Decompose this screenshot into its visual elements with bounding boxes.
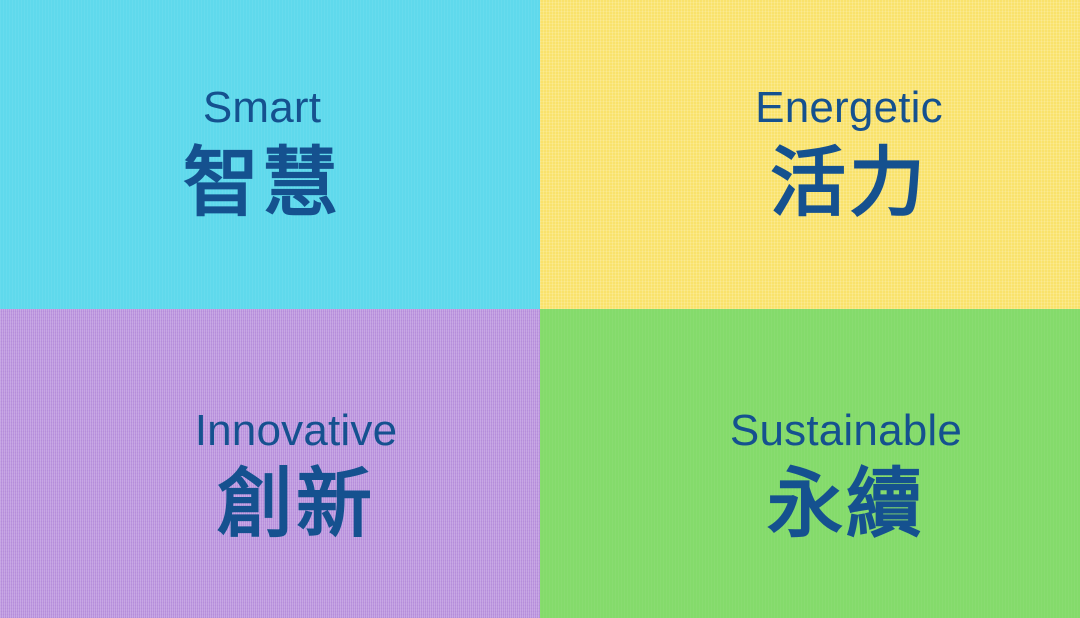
english-label-sustainable: Sustainable [730,409,962,453]
label-stack-sustainable: Sustainable 永續 [730,409,962,543]
quadrant-energetic: Energetic 活力 [540,0,1080,309]
label-stack-smart: Smart 智慧 [183,86,341,222]
quadrant-sustainable: Sustainable 永續 [540,309,1080,618]
english-label-energetic: Energetic [755,86,943,130]
label-stack-energetic: Energetic 活力 [755,86,943,222]
english-label-innovative: Innovative [195,409,398,453]
label-stack-innovative: Innovative 創新 [195,409,398,543]
chinese-label-energetic: 活力 [770,146,928,222]
chinese-label-sustainable: 永續 [767,467,925,543]
brand-values-quadrant-board: Smart 智慧 Energetic 活力 Innovative 創新 Sust… [0,0,1080,618]
chinese-label-smart: 智慧 [183,146,341,222]
english-label-smart: Smart [203,86,321,130]
quadrant-smart: Smart 智慧 [0,0,540,309]
chinese-label-innovative: 創新 [217,467,375,543]
quadrant-innovative: Innovative 創新 [0,309,540,618]
